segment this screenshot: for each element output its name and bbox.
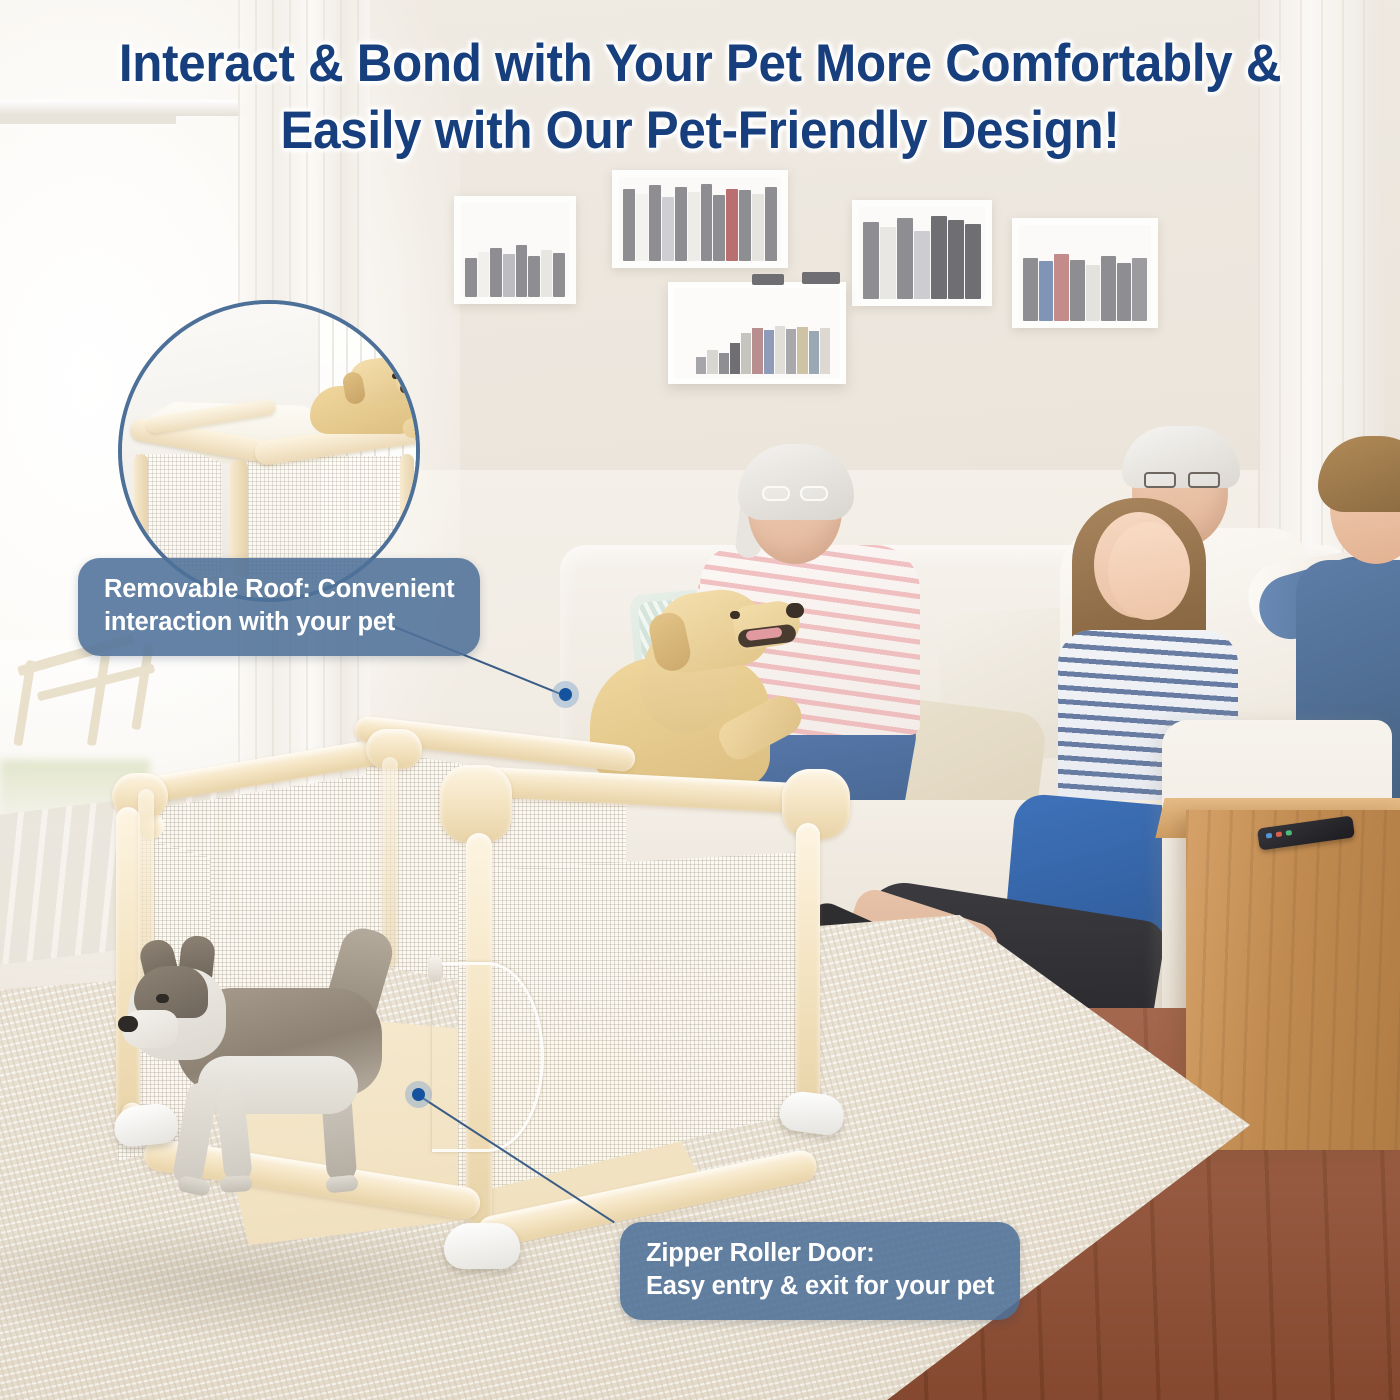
corner-joint-center [440, 765, 512, 843]
page-title: Interact & Bond with Your Pet More Comfo… [49, 30, 1351, 165]
shelf-books [461, 203, 569, 297]
shelf-books [859, 207, 985, 299]
callout-removable-roof: Removable Roof: Convenient interaction w… [78, 558, 480, 656]
callout-roof-line2: interaction with your pet [104, 606, 454, 639]
callout-zip-line2: Easy entry & exit for your pet [646, 1270, 994, 1303]
wall-shelf-1 [454, 196, 576, 304]
husky-puppy [128, 936, 438, 1206]
callout-zip-line1: Zipper Roller Door: [646, 1237, 994, 1270]
shelf-cds [696, 318, 830, 374]
wall-shelf-low [668, 282, 846, 384]
wooden-side-table [1186, 810, 1400, 1150]
zipper-pull [428, 956, 442, 982]
wall-shelf-2 [612, 170, 788, 268]
girl-face [1108, 522, 1190, 620]
headline-line-1: Interact & Bond with Your Pet More Comfo… [49, 30, 1351, 97]
remote-on-shelf [752, 274, 784, 285]
callout-zipper-roller-door: Zipper Roller Door: Easy entry & exit fo… [620, 1222, 1020, 1320]
eyeglasses [762, 486, 830, 501]
removable-roof-inset [118, 300, 420, 602]
headline-line-2: Easily with Our Pet-Friendly Design! [49, 97, 1351, 164]
playpen-foot-front [444, 1223, 520, 1269]
zipper-door-opening [432, 962, 544, 1152]
wall-shelf-3 [852, 200, 992, 306]
product-marketing-image: Removable Roof: Convenient interaction w… [0, 0, 1400, 1400]
playpen-foot-right [778, 1089, 847, 1138]
inset-golden-retriever [310, 356, 420, 434]
remote-on-shelf-2 [802, 272, 840, 284]
shelf-books [1019, 225, 1151, 321]
post-right [796, 823, 820, 1113]
callout-roof-line1: Removable Roof: Convenient [104, 573, 454, 606]
shelf-books [619, 177, 781, 261]
wall-shelf-4 [1012, 218, 1158, 328]
eyeglasses [1144, 472, 1220, 488]
